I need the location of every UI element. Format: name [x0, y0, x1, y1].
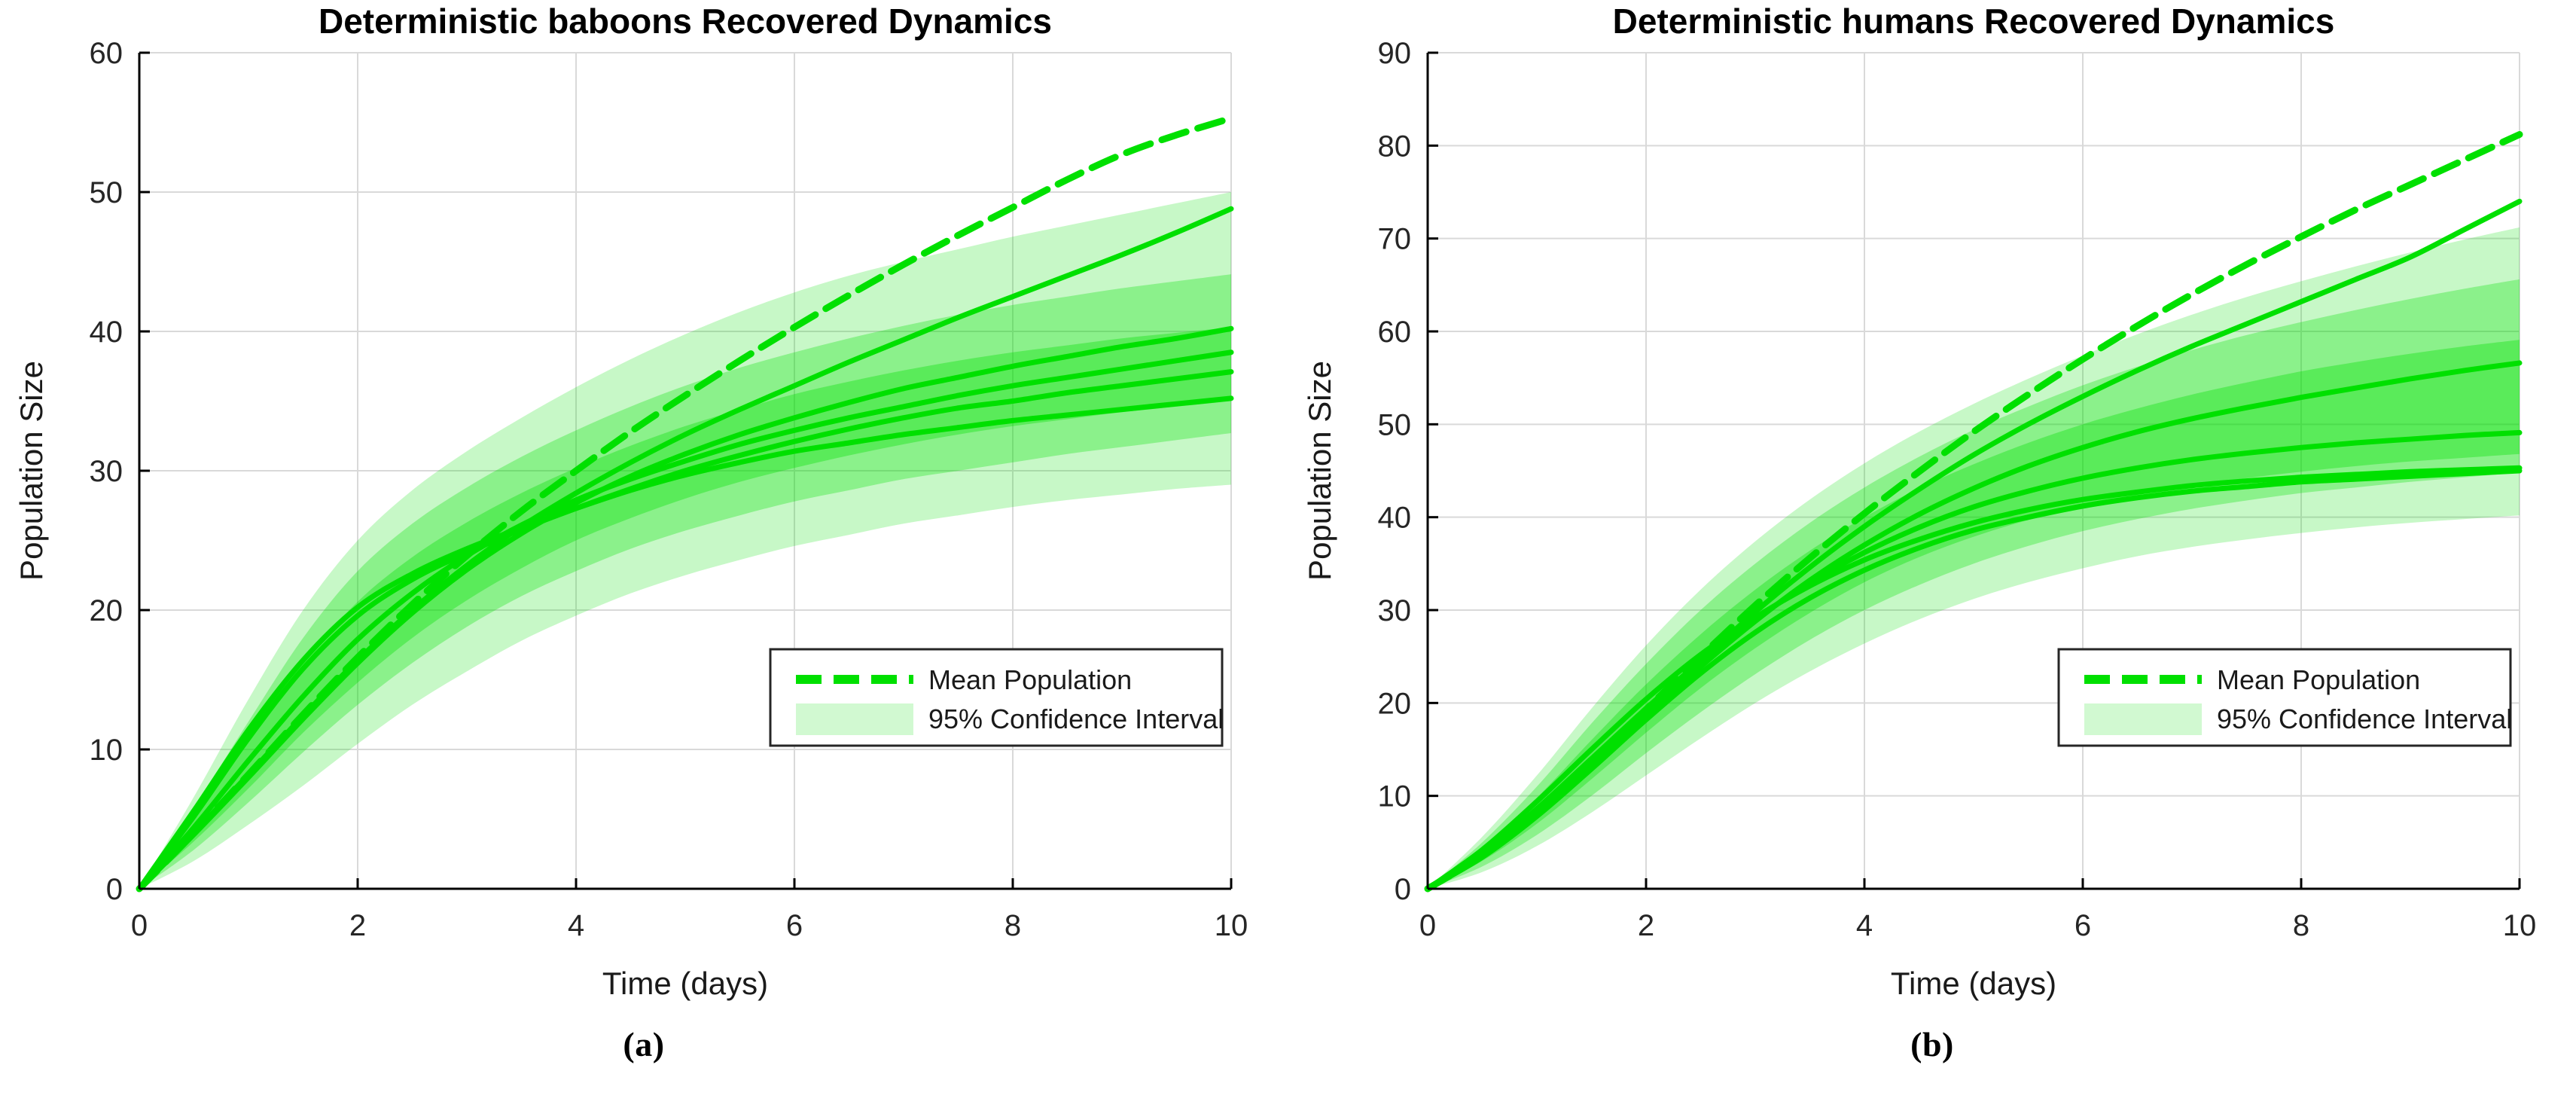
y-tick-label: 10 — [1378, 780, 1412, 813]
y-tick-label: 40 — [1378, 502, 1412, 535]
chart-baboons: Deterministic baboons Recovered Dynamics… — [0, 0, 1288, 1009]
x-axis-label: Time (days) — [602, 966, 768, 1001]
panel-baboons: Deterministic baboons Recovered Dynamics… — [0, 0, 1288, 1120]
panel-humans: Deterministic humans Recovered Dynamics0… — [1288, 0, 2576, 1120]
panel-caption-a: (a) — [0, 1024, 1288, 1064]
y-tick-label: 30 — [90, 455, 123, 488]
chart-title: Deterministic baboons Recovered Dynamics — [319, 2, 1052, 41]
y-tick-label: 50 — [1378, 408, 1412, 441]
x-tick-label: 4 — [1856, 909, 1873, 942]
x-tick-label: 0 — [1419, 909, 1436, 942]
chart-title: Deterministic humans Recovered Dynamics — [1613, 2, 2335, 41]
figure-container: Deterministic baboons Recovered Dynamics… — [0, 0, 2576, 1120]
y-axis-label: Population Size — [14, 361, 49, 581]
chart-humans: Deterministic humans Recovered Dynamics0… — [1288, 0, 2576, 1009]
x-tick-label: 0 — [131, 909, 148, 942]
y-tick-label: 20 — [90, 594, 123, 627]
confidence-bands — [1428, 227, 2520, 889]
y-tick-label: 70 — [1378, 223, 1412, 256]
y-tick-label: 40 — [90, 316, 123, 349]
x-tick-label: 2 — [1638, 909, 1654, 942]
x-tick-label: 2 — [349, 909, 366, 942]
y-tick-label: 10 — [90, 734, 123, 767]
y-tick-label: 60 — [1378, 316, 1412, 349]
legend-mean-label: Mean Population — [928, 664, 1132, 695]
x-tick-label: 6 — [786, 909, 803, 942]
y-tick-label: 60 — [90, 37, 123, 70]
y-tick-label: 30 — [1378, 594, 1412, 627]
x-tick-label: 4 — [568, 909, 584, 942]
y-axis-label: Population Size — [1302, 361, 1337, 581]
y-tick-label: 20 — [1378, 687, 1412, 720]
x-axis-label: Time (days) — [1891, 966, 2056, 1001]
x-tick-label: 8 — [1004, 909, 1021, 942]
y-tick-label: 50 — [90, 176, 123, 209]
y-tick-label: 90 — [1378, 37, 1412, 70]
legend-ci-label: 95% Confidence Interval — [2217, 703, 2512, 734]
legend-ci-label: 95% Confidence Interval — [928, 703, 1224, 734]
legend[interactable]: Mean Population95% Confidence Interval — [770, 649, 1224, 746]
y-tick-label: 0 — [106, 873, 123, 906]
x-tick-label: 6 — [2075, 909, 2091, 942]
legend-ci-swatch — [2084, 703, 2202, 735]
x-tick-label: 10 — [2503, 909, 2537, 942]
confidence-bands — [139, 192, 1231, 889]
y-tick-label: 0 — [1395, 873, 1411, 906]
legend-ci-swatch — [796, 703, 913, 735]
x-tick-label: 8 — [2293, 909, 2309, 942]
x-tick-label: 10 — [1215, 909, 1248, 942]
panel-caption-b: (b) — [1288, 1024, 2576, 1064]
legend-mean-label: Mean Population — [2217, 664, 2420, 695]
legend[interactable]: Mean Population95% Confidence Interval — [2059, 649, 2512, 746]
y-tick-label: 80 — [1378, 130, 1412, 163]
